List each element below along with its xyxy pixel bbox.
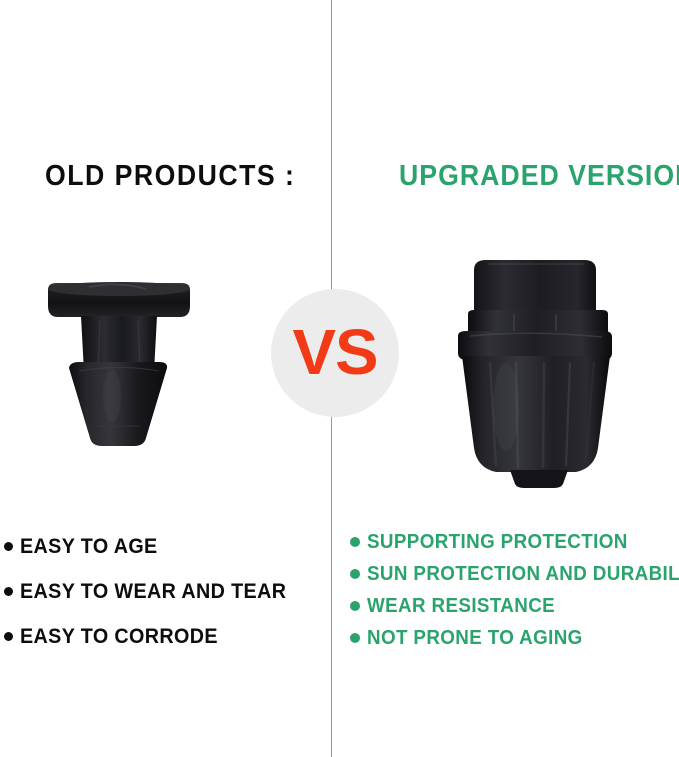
upgraded-product-image [444,252,620,490]
vs-label: VS [270,288,401,416]
list-item-label: WEAR RESISTANCE [367,595,555,618]
list-item: SUN PROTECTION AND DURABILITY [350,558,679,590]
old-products-bullet-list: EASY TO AGE EASY TO WEAR AND TEAR EASY T… [4,524,303,659]
bullet-dot-icon [350,633,360,643]
upgraded-ribbed-plug-icon [444,252,620,490]
bullet-dot-icon [350,537,360,547]
list-item: WEAR RESISTANCE [350,590,679,622]
bullet-dot-icon [4,587,13,596]
list-item-label: SUPPORTING PROTECTION [367,531,628,554]
list-item: EASY TO AGE [4,524,303,569]
old-rivet-plug-icon [34,276,204,456]
comparison-canvas: OLD PRODUCTS : [0,0,679,757]
bullet-dot-icon [350,569,360,579]
upgraded-version-bullet-list: SUPPORTING PROTECTION SUN PROTECTION AND… [350,526,679,654]
list-item: NOT PRONE TO AGING [350,622,679,654]
list-item: EASY TO CORRODE [4,614,303,659]
list-item-label: EASY TO CORRODE [20,625,218,649]
list-item-label: EASY TO WEAR AND TEAR [20,580,286,604]
bullet-dot-icon [350,601,360,611]
bullet-dot-icon [4,542,13,551]
upgraded-version-heading: UPGRADED VERSION: [399,160,679,192]
list-item: SUPPORTING PROTECTION [350,526,679,558]
list-item: EASY TO WEAR AND TEAR [4,569,303,614]
list-item-label: EASY TO AGE [20,535,158,559]
vs-badge: VS [271,289,399,417]
bullet-dot-icon [4,632,13,641]
list-item-label: SUN PROTECTION AND DURABILITY [367,563,679,586]
old-product-image [34,276,204,456]
old-products-heading: OLD PRODUCTS : [45,160,295,192]
list-item-label: NOT PRONE TO AGING [367,627,583,650]
